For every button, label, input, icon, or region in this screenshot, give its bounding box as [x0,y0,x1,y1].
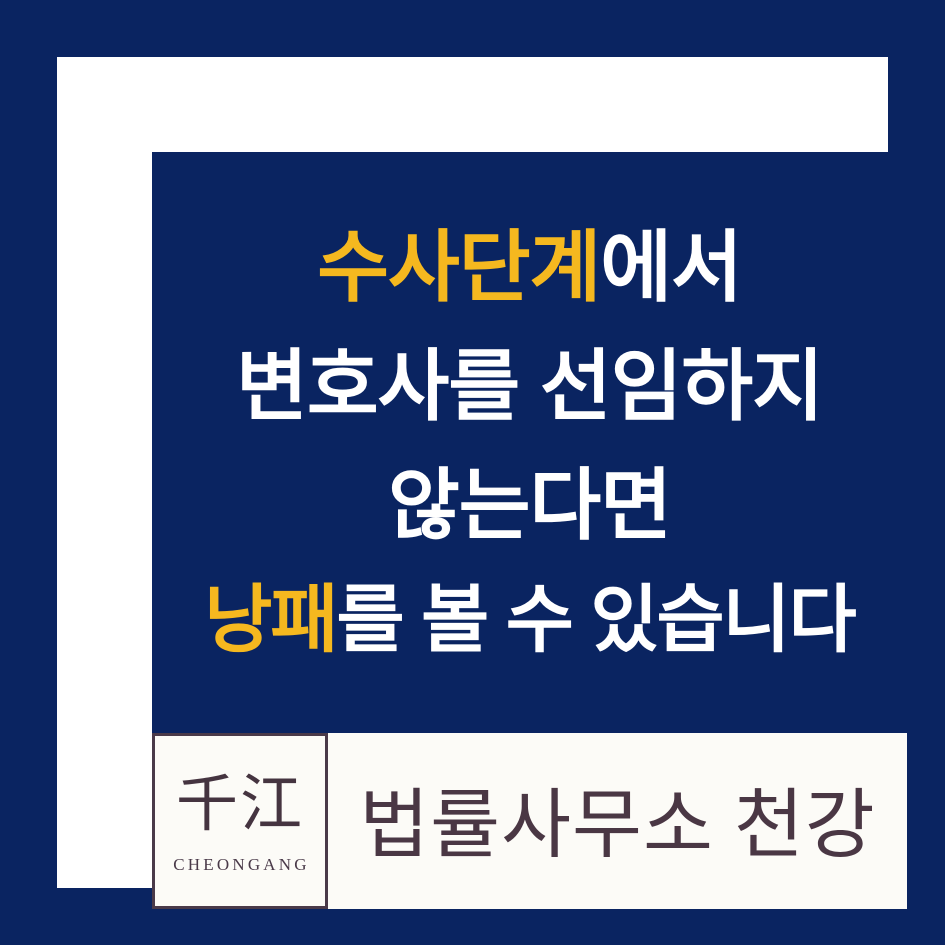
firm-name-label: 법률사무소 천강 [328,733,907,909]
logo-hanja-text: 千江 [176,773,304,835]
headline-plain-2: 변호사를 선임하지 [236,342,823,430]
promo-card: 수사단계에서 변호사를 선임하지 않는다면 낭패를 볼 수 있습니다 千江 CH… [0,0,945,945]
headline-accent-1: 수사단계 [317,223,600,311]
headline-plain-1: 에서 [600,223,742,311]
headline-line-3: 않는다면 [152,446,907,565]
headline-plain-4: 를 볼 수 있습니다 [336,578,854,661]
white-frame: 수사단계에서 변호사를 선임하지 않는다면 낭패를 볼 수 있습니다 千江 CH… [57,57,888,888]
headline-plain-3: 않는다면 [388,461,671,549]
headline-accent-4: 낭패 [204,578,336,661]
headline-line-4: 낭패를 볼 수 있습니다 [152,564,907,676]
cheongang-logo-icon: 千江 CHEONGANG [152,733,328,909]
brand-strip: 千江 CHEONGANG 법률사무소 천강 [152,733,907,909]
logo-romanized-text: CHEONGANG [170,855,309,875]
headline-line-1: 수사단계에서 [152,208,907,327]
headline-panel: 수사단계에서 변호사를 선임하지 않는다면 낭패를 볼 수 있습니다 [152,152,907,733]
headline-line-2: 변호사를 선임하지 [152,327,907,446]
